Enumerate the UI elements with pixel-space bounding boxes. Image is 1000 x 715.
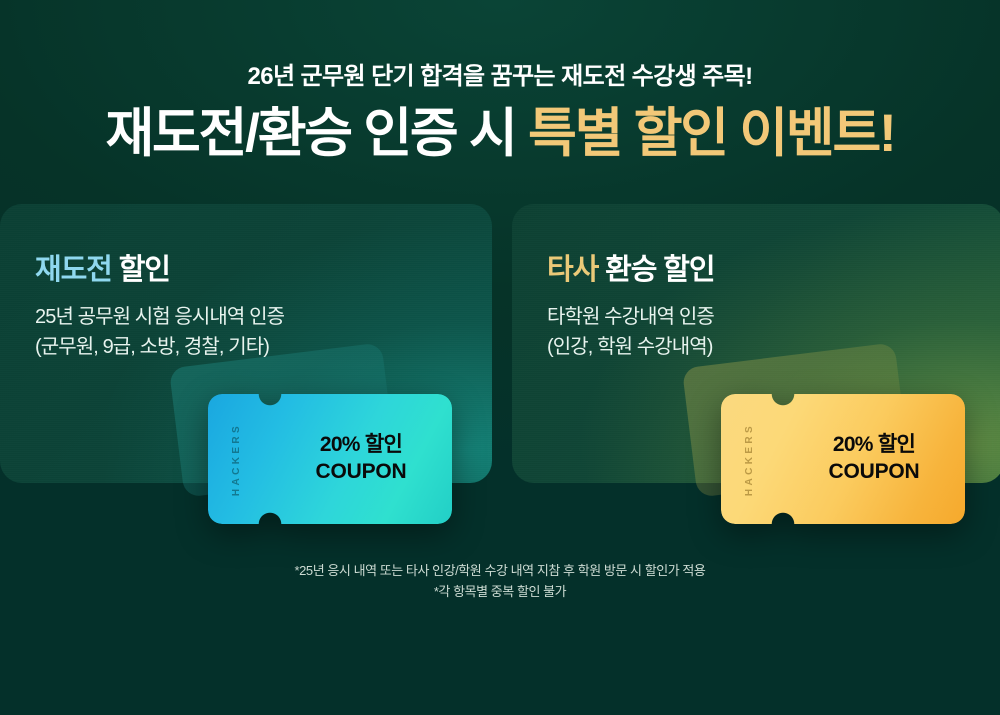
kicker-text: 26년 군무원 단기 합격을 꿈꾸는 재도전 수강생 주목! bbox=[0, 62, 1000, 92]
card-title-plain: 환승 할인 bbox=[598, 254, 714, 286]
title-accent-part: 특별 할인 이벤트! bbox=[528, 104, 894, 163]
coupon-brand-label: HACKERS bbox=[224, 394, 250, 524]
coupon-ticket-retry[interactable]: HACKERS 20% 할인 COUPON bbox=[208, 394, 452, 524]
page-title: 재도전/환승 인증 시 특별 할인 이벤트! bbox=[0, 104, 1000, 163]
coupon-brand-text: HACKERS bbox=[232, 422, 243, 495]
coupon-ticket-stack-retry: HACKERS 20% 할인 COUPON bbox=[176, 355, 476, 535]
headline-block: 26년 군무원 단기 합격을 꿈꾸는 재도전 수강생 주목! 재도전/환승 인증… bbox=[0, 0, 1000, 163]
coupon-brand-text: HACKERS bbox=[745, 422, 756, 495]
card-title-transfer: 타사 환승 할인 bbox=[547, 246, 714, 288]
footnote-line-2: *각 항목별 중복 할인 불가 bbox=[0, 581, 1000, 602]
card-description-transfer: 타학원 수강내역 인증 (인강, 학원 수강내역) bbox=[547, 302, 714, 363]
coupon-copy: 20% 할인 COUPON bbox=[783, 394, 965, 524]
coupon-discount-amount: 20% 할인 bbox=[833, 432, 915, 459]
footnotes: *25년 응시 내역 또는 타사 인강/학원 수강 내역 지참 후 학원 방문 … bbox=[0, 560, 1000, 602]
offer-card-retry-discount[interactable]: 재도전 할인 25년 공무원 시험 응시내역 인증 (군무원, 9급, 소방, … bbox=[0, 204, 492, 483]
offer-cards: 재도전 할인 25년 공무원 시험 응시내역 인증 (군무원, 9급, 소방, … bbox=[0, 204, 1000, 484]
card-title-retry: 재도전 할인 bbox=[35, 246, 170, 288]
coupon-copy: 20% 할인 COUPON bbox=[270, 394, 452, 524]
coupon-ticket-stack-transfer: HACKERS 20% 할인 COUPON bbox=[689, 355, 989, 535]
coupon-ticket-transfer[interactable]: HACKERS 20% 할인 COUPON bbox=[721, 394, 965, 524]
offer-card-transfer-discount[interactable]: 타사 환승 할인 타학원 수강내역 인증 (인강, 학원 수강내역) HACKE… bbox=[512, 204, 1000, 483]
card-description-retry: 25년 공무원 시험 응시내역 인증 (군무원, 9급, 소방, 경찰, 기타) bbox=[35, 302, 284, 363]
coupon-brand-label: HACKERS bbox=[737, 394, 763, 524]
card-title-accent: 재도전 bbox=[35, 254, 112, 286]
card-title-plain: 할인 bbox=[112, 254, 170, 286]
coupon-label: COUPON bbox=[829, 459, 920, 486]
coupon-label: COUPON bbox=[316, 459, 407, 486]
coupon-discount-amount: 20% 할인 bbox=[320, 432, 402, 459]
card-title-accent: 타사 bbox=[547, 254, 598, 286]
footnote-line-1: *25년 응시 내역 또는 타사 인강/학원 수강 내역 지참 후 학원 방문 … bbox=[0, 560, 1000, 581]
promo-banner: 26년 군무원 단기 합격을 꿈꾸는 재도전 수강생 주목! 재도전/환승 인증… bbox=[0, 0, 1000, 715]
title-plain-part: 재도전/환승 인증 시 bbox=[105, 104, 528, 163]
